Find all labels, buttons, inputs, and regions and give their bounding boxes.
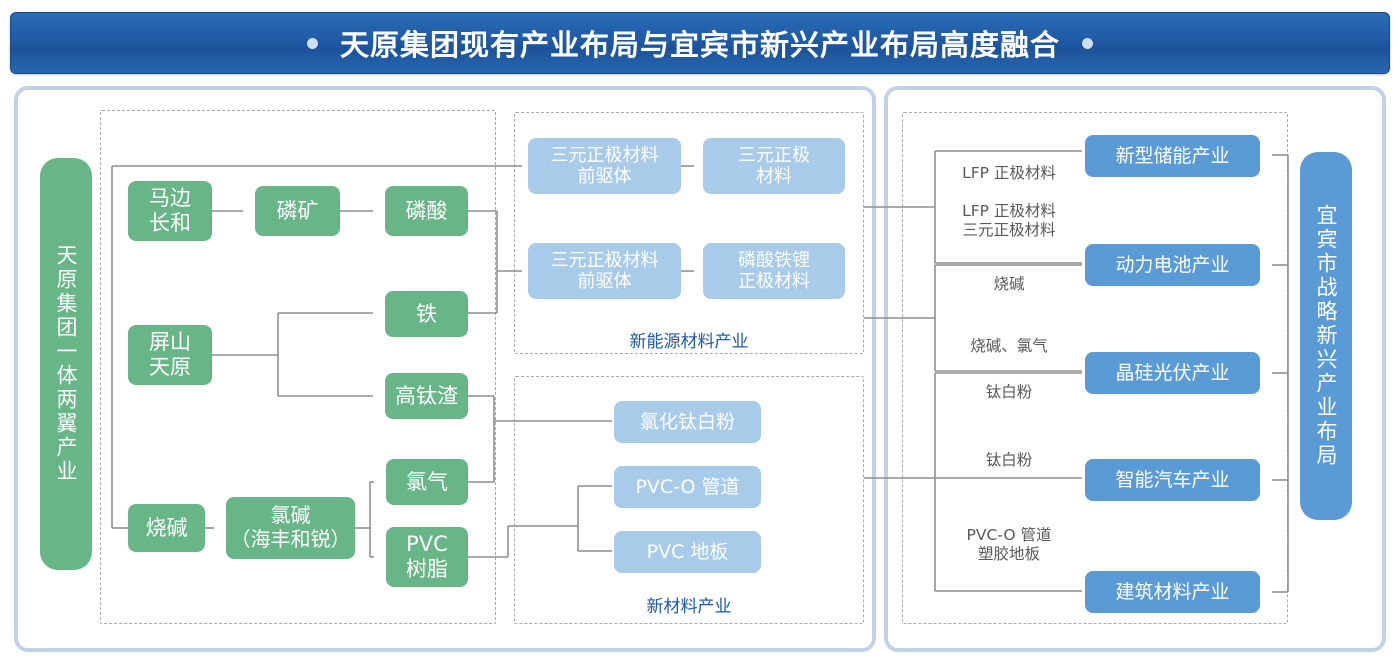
annotation-titanium-dioxide-1: 钛白粉 xyxy=(938,383,1080,402)
vertical-bar-yibin-layout: 宜宾市战略新兴产业布局 xyxy=(1300,152,1352,520)
node-ncm-precursor-2[interactable]: 三元正极材料 前驱体 xyxy=(528,243,681,299)
industry-building-materials[interactable]: 建筑材料产业 xyxy=(1085,571,1260,613)
caption-new-energy-materials: 新能源材料产业 xyxy=(514,327,864,352)
node-phosphoric-acid[interactable]: 磷酸 xyxy=(385,186,468,236)
node-phosphate-ore[interactable]: 磷矿 xyxy=(255,186,340,236)
vertical-bar-tianyuan-group: 天原集团一体两翼产业 xyxy=(40,158,92,570)
industry-intelligent-automobile[interactable]: 智能汽车产业 xyxy=(1085,459,1260,501)
vertical-bar-tianyuan-label: 天原集团一体两翼产业 xyxy=(55,244,77,484)
title-bar: 天原集团现有产业布局与宜宾市新兴产业布局高度融合 xyxy=(10,12,1390,74)
industry-new-energy-storage[interactable]: 新型储能产业 xyxy=(1085,135,1260,177)
node-mabian-changhe[interactable]: 马边 长和 xyxy=(128,181,212,241)
node-pvc-flooring[interactable]: PVC 地板 xyxy=(614,531,761,573)
caption-new-materials: 新材料产业 xyxy=(514,592,864,617)
node-caustic-soda[interactable]: 烧碱 xyxy=(128,504,205,552)
node-lfp-cathode[interactable]: 磷酸铁锂 正极材料 xyxy=(703,243,845,299)
annotation-lfp-ncm-cathode: LFP 正极材料 三元正极材料 xyxy=(938,202,1080,240)
industry-crystalline-silicon-pv[interactable]: 晶硅光伏产业 xyxy=(1085,352,1260,394)
vertical-bar-yibin-label: 宜宾市战略新兴产业布局 xyxy=(1315,204,1337,468)
bullet-left-icon xyxy=(307,38,318,49)
annotation-titanium-dioxide-2: 钛白粉 xyxy=(938,451,1080,470)
node-chlorine-gas[interactable]: 氯气 xyxy=(386,459,468,505)
annotation-caustic-soda: 烧碱 xyxy=(938,275,1080,294)
annotation-lfp-cathode-1: LFP 正极材料 xyxy=(938,164,1080,183)
node-ncm-cathode[interactable]: 三元正极 材料 xyxy=(703,138,845,194)
node-pvc-resin[interactable]: PVC 树脂 xyxy=(386,527,468,587)
node-ncm-precursor-1[interactable]: 三元正极材料 前驱体 xyxy=(528,138,681,194)
bullet-right-icon xyxy=(1082,38,1093,49)
node-pingshan-tianyuan[interactable]: 屏山 天原 xyxy=(128,325,212,385)
node-chlorinated-titanium-dioxide[interactable]: 氯化钛白粉 xyxy=(614,401,761,443)
node-high-titanium-slag[interactable]: 高钛渣 xyxy=(385,373,468,419)
annotation-caustic-soda-chlorine: 烧碱、氯气 xyxy=(938,337,1080,356)
industry-power-battery[interactable]: 动力电池产业 xyxy=(1085,244,1260,286)
annotation-pvco-pipe-plastic-floor: PVC-O 管道 塑胶地板 xyxy=(938,526,1080,564)
node-iron[interactable]: 铁 xyxy=(385,291,468,337)
node-pvc-o-pipe[interactable]: PVC-O 管道 xyxy=(614,466,761,508)
node-chlor-alkali[interactable]: 氯碱 （海丰和锐） xyxy=(226,497,355,559)
page-title: 天原集团现有产业布局与宜宾市新兴产业布局高度融合 xyxy=(340,22,1060,64)
